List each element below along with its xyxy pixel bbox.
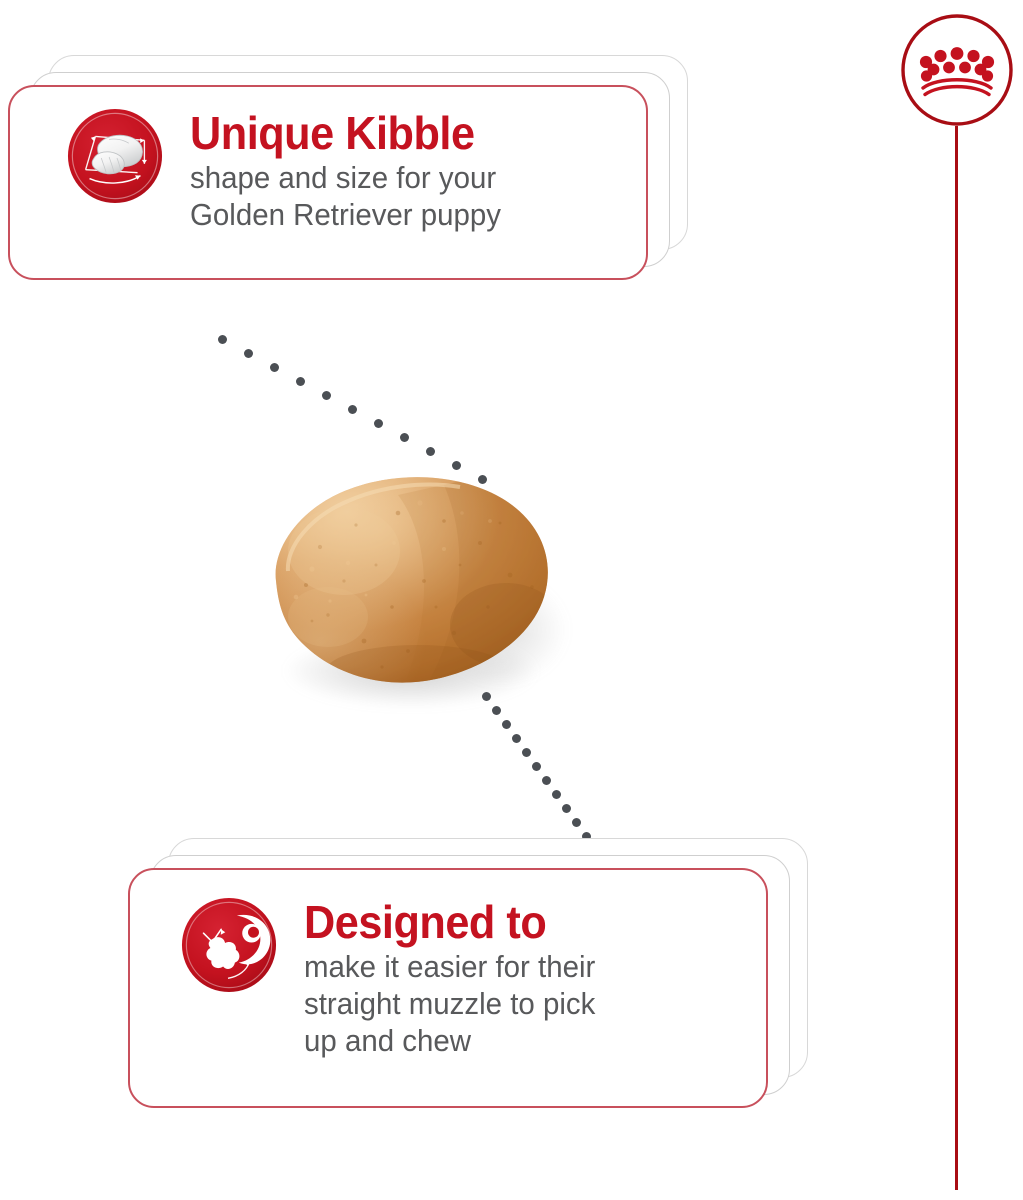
muzzle-chew-icon <box>180 896 278 994</box>
card-title: Designed to <box>304 898 742 946</box>
card-body: make it easier for their straight muzzle… <box>304 948 747 1059</box>
card-body-line: up and chew <box>304 1022 747 1059</box>
card-body-line: shape and size for your <box>190 159 623 196</box>
royal-canin-crown-icon <box>899 12 1015 128</box>
brand-vertical-rule <box>955 126 958 1190</box>
infographic-stage: Unique Kibble shape and size for your Go… <box>0 0 1023 1200</box>
card-stack-unique-kibble: Unique Kibble shape and size for your Go… <box>8 55 698 310</box>
kibble-measurement-icon <box>66 107 164 205</box>
card-text-unique-kibble: Unique Kibble shape and size for your Go… <box>164 107 646 233</box>
card-stack-designed-to: Designed to make it easier for their str… <box>128 838 818 1138</box>
connector-bottom <box>482 692 642 852</box>
card-content-unique-kibble: Unique Kibble shape and size for your Go… <box>66 107 646 233</box>
card-body-line: make it easier for their <box>304 948 747 985</box>
card-body-line: Golden Retriever puppy <box>190 196 623 233</box>
card-text-designed-to: Designed to make it easier for their str… <box>278 896 770 1059</box>
card-body: shape and size for your Golden Retriever… <box>190 159 623 233</box>
card-content-designed-to: Designed to make it easier for their str… <box>180 896 770 1059</box>
card-body-line: straight muzzle to pick <box>304 985 747 1022</box>
card-title: Unique Kibble <box>190 109 619 157</box>
kibble-photo <box>248 455 578 715</box>
